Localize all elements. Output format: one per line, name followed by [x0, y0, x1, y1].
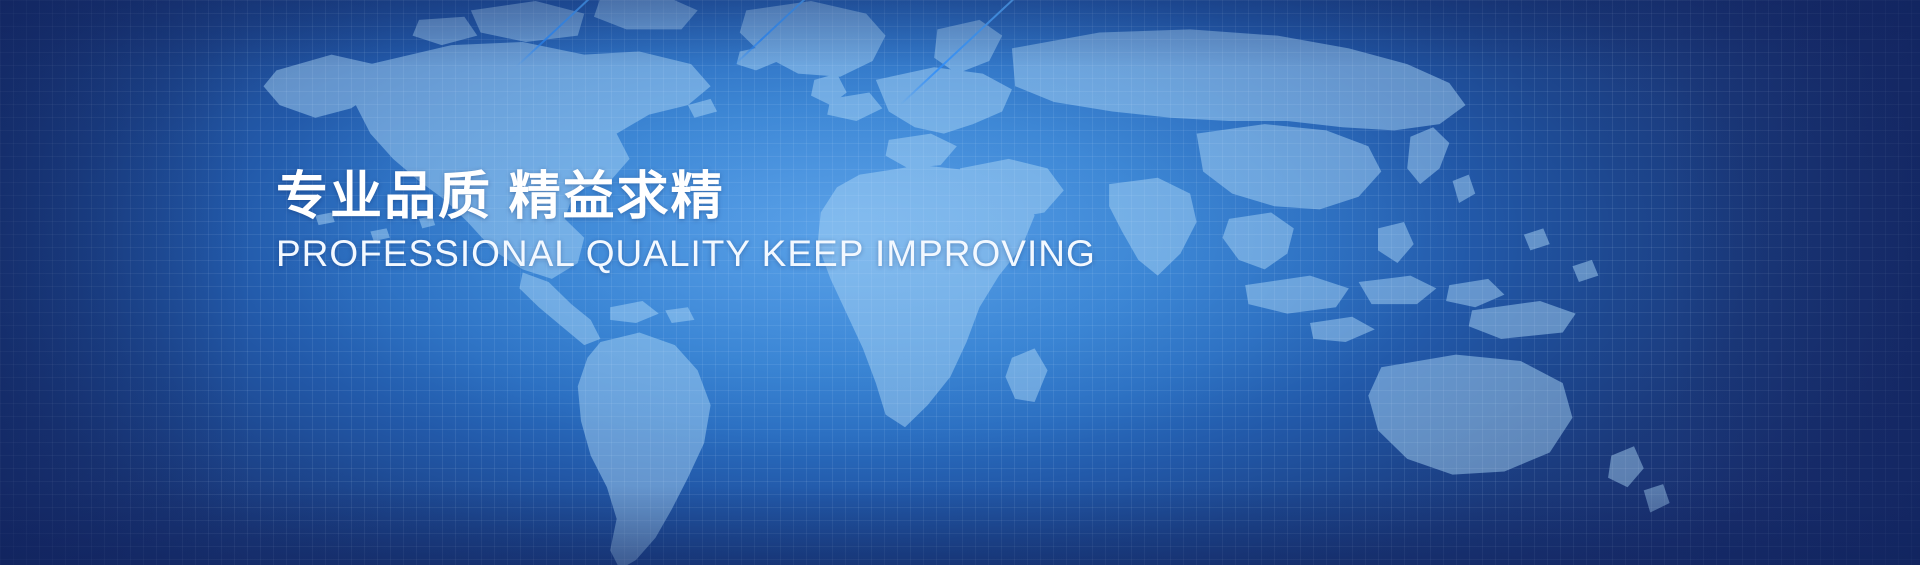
hero-headline-chinese: 专业品质 精益求精: [276, 168, 1096, 226]
hero-subheadline-english: PROFESSIONAL QUALITY KEEP IMPROVING: [276, 234, 1096, 275]
hero-text-block: 专业品质 精益求精 PROFESSIONAL QUALITY KEEP IMPR…: [276, 168, 1096, 275]
background-vignette-gradient: [0, 0, 1920, 565]
hero-banner: 专业品质 精益求精 PROFESSIONAL QUALITY KEEP IMPR…: [0, 0, 1920, 565]
